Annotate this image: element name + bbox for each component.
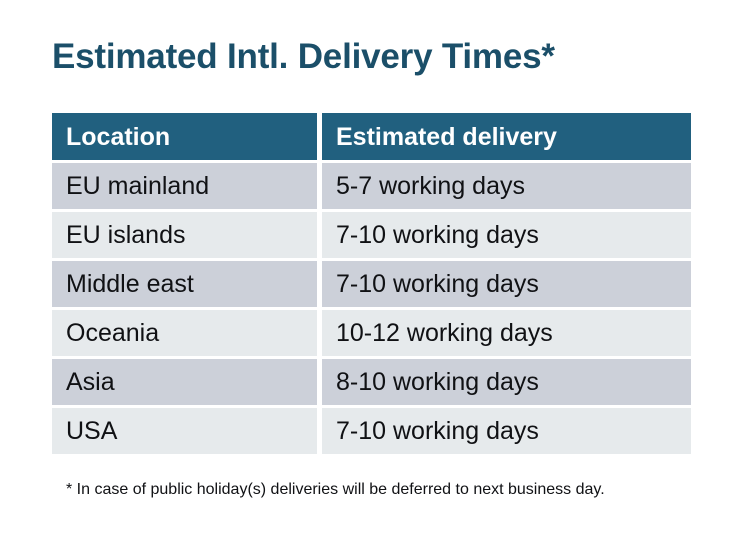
cell-location: Oceania: [52, 310, 317, 356]
cell-location: Asia: [52, 359, 317, 405]
table-row: EU islands 7-10 working days: [52, 212, 691, 258]
table-row: USA 7-10 working days: [52, 408, 691, 454]
cell-location: EU mainland: [52, 163, 317, 209]
column-header-estimated-delivery: Estimated delivery: [322, 113, 691, 160]
delivery-times-page: Estimated Intl. Delivery Times* Location…: [0, 0, 745, 536]
cell-estimated-delivery: 7-10 working days: [322, 408, 691, 454]
table-row: Asia 8-10 working days: [52, 359, 691, 405]
page-title: Estimated Intl. Delivery Times*: [52, 36, 555, 78]
cell-estimated-delivery: 5-7 working days: [322, 163, 691, 209]
cell-estimated-delivery: 8-10 working days: [322, 359, 691, 405]
column-header-location: Location: [52, 113, 317, 160]
table-row: Middle east 7-10 working days: [52, 261, 691, 307]
table-row: EU mainland 5-7 working days: [52, 163, 691, 209]
table-row: Oceania 10-12 working days: [52, 310, 691, 356]
cell-location: EU islands: [52, 212, 317, 258]
cell-location: USA: [52, 408, 317, 454]
cell-location: Middle east: [52, 261, 317, 307]
table-header-row: Location Estimated delivery: [52, 113, 691, 160]
footnote-text: * In case of public holiday(s) deliverie…: [66, 480, 605, 500]
cell-estimated-delivery: 7-10 working days: [322, 212, 691, 258]
delivery-times-table: Location Estimated delivery EU mainland …: [52, 113, 691, 457]
cell-estimated-delivery: 7-10 working days: [322, 261, 691, 307]
cell-estimated-delivery: 10-12 working days: [322, 310, 691, 356]
